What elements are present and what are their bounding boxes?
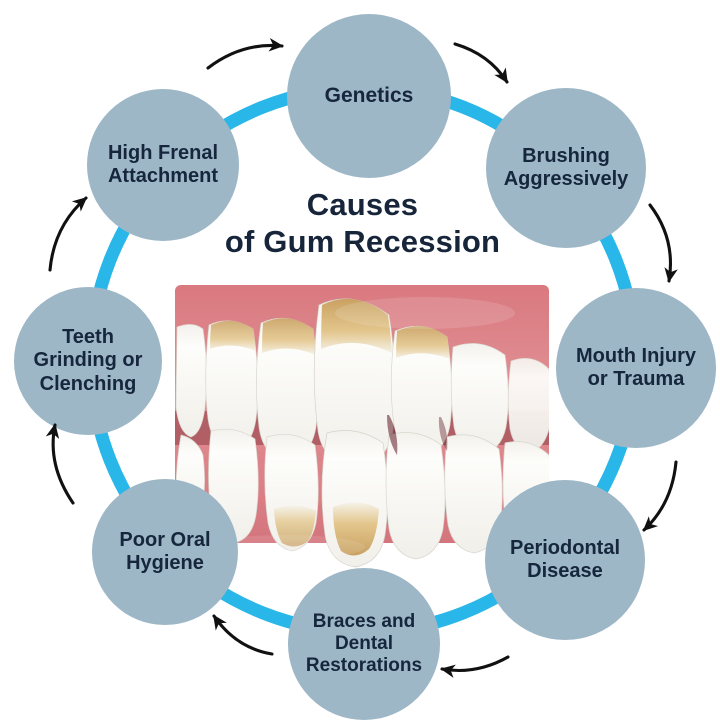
node-genetics-label: Genetics: [319, 84, 420, 108]
node-poor-oral-hygiene[interactable]: Poor Oral Hygiene: [92, 479, 238, 625]
node-periodontal-disease[interactable]: Periodontal Disease: [485, 480, 645, 640]
node-teeth-grinding-or-clenching[interactable]: Teeth Grinding or Clenching: [14, 287, 162, 435]
node-periodontal-disease-label: Periodontal Disease: [504, 537, 626, 583]
node-brushing-aggressively[interactable]: Brushing Aggressively: [486, 88, 646, 248]
node-braces-and-dental-restorations[interactable]: Braces and Dental Restorations: [288, 568, 440, 720]
node-teeth-grinding-or-clenching-label: Teeth Grinding or Clenching: [28, 326, 149, 396]
infographic-canvas: Causes of Gum Recession Genetics Brushin…: [0, 0, 720, 720]
node-braces-and-dental-restorations-label: Braces and Dental Restorations: [300, 611, 428, 677]
node-high-frenal-attachment[interactable]: High Frenal Attachment: [87, 89, 239, 241]
node-mouth-injury-or-trauma[interactable]: Mouth Injury or Trauma: [556, 288, 716, 448]
node-brushing-aggressively-label: Brushing Aggressively: [498, 145, 635, 191]
node-high-frenal-attachment-label: High Frenal Attachment: [102, 142, 224, 188]
node-poor-oral-hygiene-label: Poor Oral Hygiene: [113, 529, 216, 575]
node-mouth-injury-or-trauma-label: Mouth Injury or Trauma: [570, 345, 702, 391]
node-genetics[interactable]: Genetics: [287, 14, 451, 178]
